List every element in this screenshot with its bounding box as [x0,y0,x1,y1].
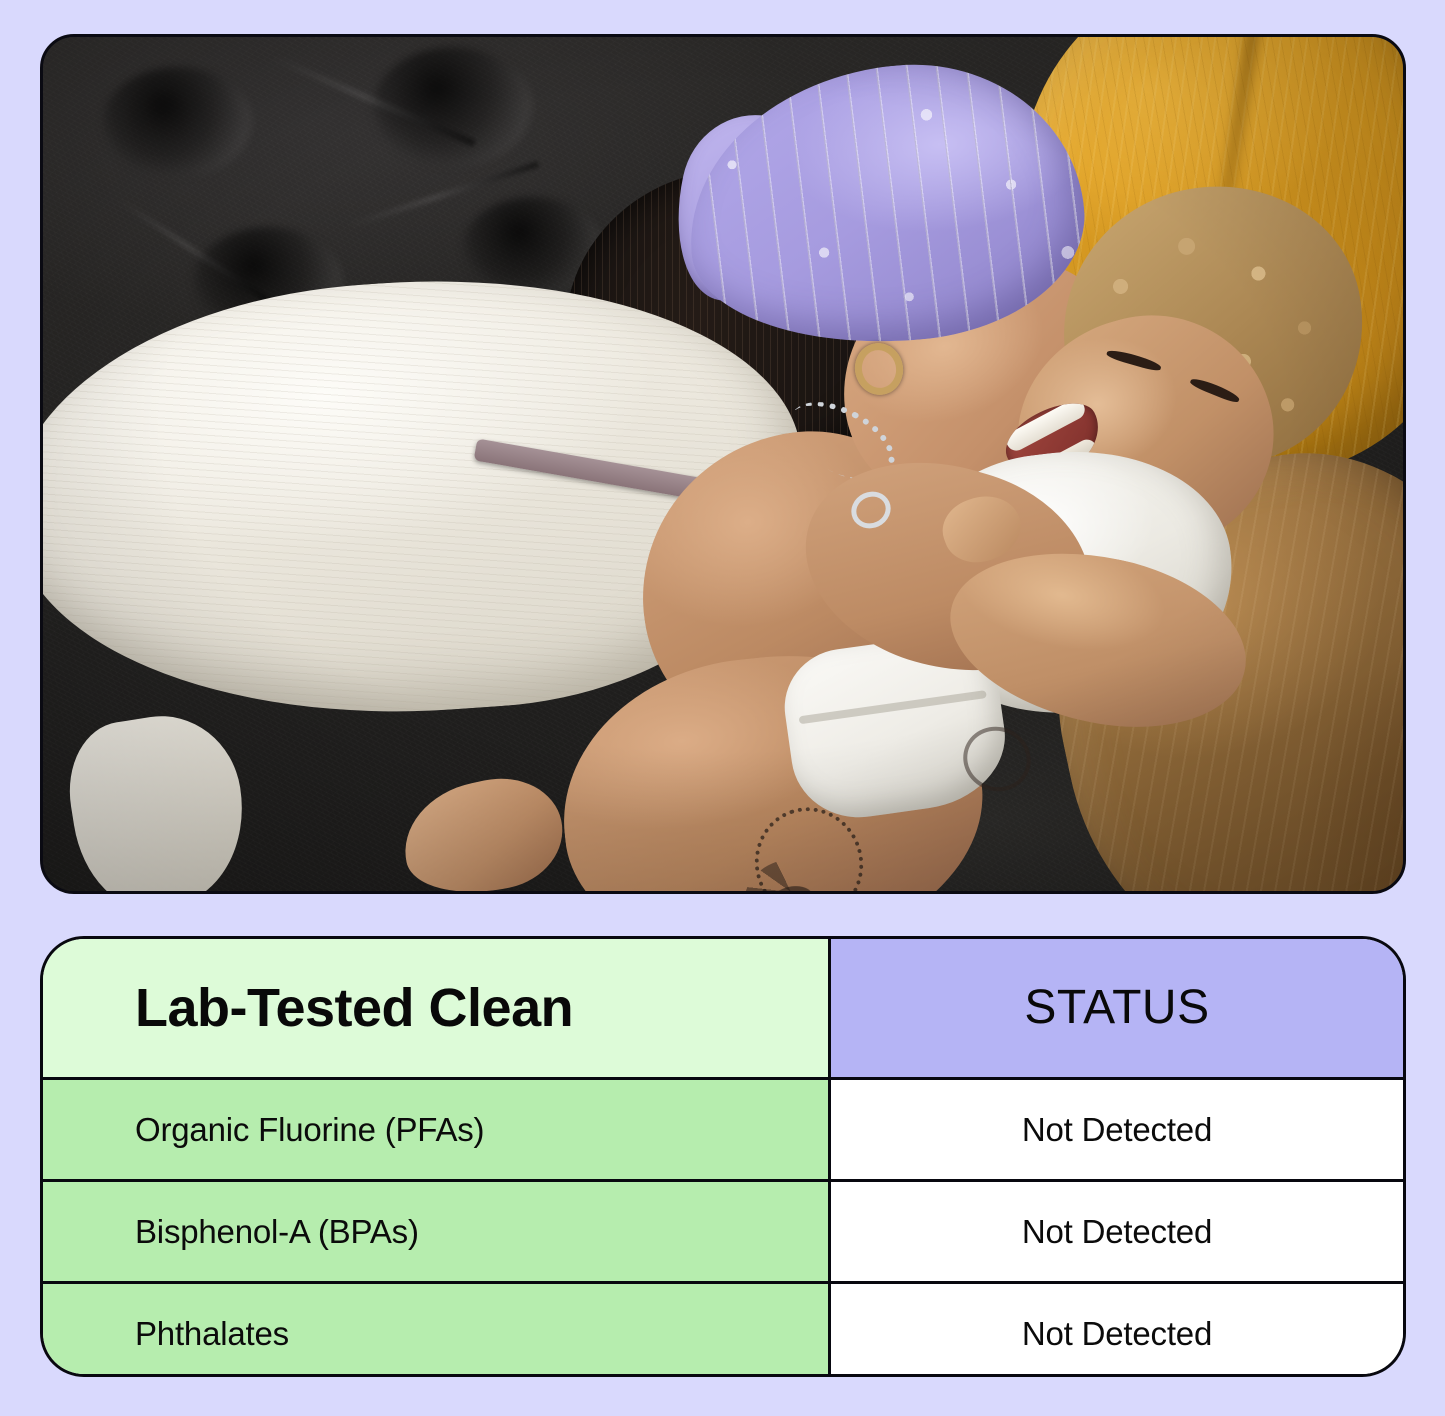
table-row: Phthalates Not Detected [43,1284,1403,1377]
table-header-status-cell: STATUS [831,939,1403,1077]
paisley-bandana [677,50,1094,358]
substance-label: Bisphenol-A (BPAs) [135,1215,419,1248]
substance-label: Phthalates [135,1317,289,1350]
status-value: Not Detected [1022,1317,1212,1350]
status-value: Not Detected [1022,1113,1212,1146]
status-column-header: STATUS [1024,984,1209,1032]
couch-tuft [103,67,253,177]
table-row: Organic Fluorine (PFAs) Not Detected [43,1080,1403,1182]
substance-cell: Organic Fluorine (PFAs) [43,1080,831,1179]
table-header-row: Lab-Tested Clean STATUS [43,939,1403,1080]
status-cell: Not Detected [831,1284,1403,1377]
table-row: Bisphenol-A (BPAs) Not Detected [43,1182,1403,1284]
substance-label: Organic Fluorine (PFAs) [135,1113,484,1146]
status-value: Not Detected [1022,1215,1212,1248]
status-cell: Not Detected [831,1080,1403,1179]
lab-results-table: Lab-Tested Clean STATUS Organic Fluorine… [40,936,1406,1377]
substance-cell: Bisphenol-A (BPAs) [43,1182,831,1281]
table-header-title-cell: Lab-Tested Clean [43,939,831,1077]
lifestyle-photo-card [40,34,1406,894]
substance-cell: Phthalates [43,1284,831,1377]
status-cell: Not Detected [831,1182,1403,1281]
photo-image [43,37,1403,891]
table-title: Lab-Tested Clean [135,981,573,1035]
